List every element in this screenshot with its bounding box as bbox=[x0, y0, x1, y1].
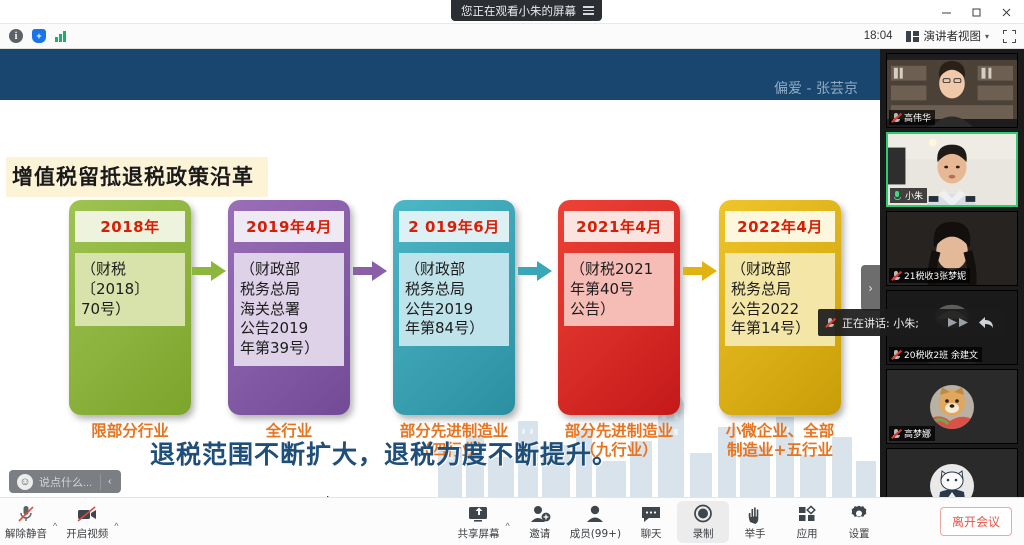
participant-filmstrip[interactable]: 高伟华 小朱 bbox=[880, 49, 1024, 497]
share-options-chevron-icon[interactable]: ^ bbox=[504, 521, 513, 543]
chat-button[interactable]: 聊天 bbox=[625, 501, 677, 543]
record-button[interactable]: 录制 bbox=[677, 501, 729, 543]
collapse-chat-icon[interactable]: ‹ bbox=[101, 476, 118, 487]
toolbar-label: 共享屏幕 bbox=[457, 526, 499, 541]
meeting-info-bar: i + 18:04 演讲者视图 ▾ bbox=[0, 24, 1024, 49]
arrow-icon-2 bbox=[353, 260, 387, 282]
participant-name: 20税收2班 余建文 bbox=[904, 348, 978, 361]
toast-icons bbox=[948, 316, 994, 329]
toolbar-label: 应用 bbox=[797, 526, 818, 541]
avatar bbox=[930, 464, 974, 498]
raise-hand-icon bbox=[744, 504, 766, 524]
presentation-top-band: 偏爱 - 张芸京 bbox=[0, 49, 880, 100]
card-year: 2021年4月 bbox=[564, 211, 674, 242]
now-playing-text: 偏爱 - 张芸京 bbox=[774, 78, 858, 98]
participant-tile[interactable]: 高伟华 bbox=[886, 53, 1018, 128]
participant-tile-active-speaker[interactable]: 小朱 bbox=[886, 132, 1018, 207]
apps-button[interactable]: 应用 bbox=[781, 501, 833, 543]
raise-hand-button[interactable]: 举手 bbox=[729, 501, 781, 543]
minimize-button[interactable] bbox=[932, 1, 960, 23]
speaking-label: 正在讲话: 小朱; bbox=[842, 315, 919, 331]
settings-button[interactable]: 设置 bbox=[833, 501, 885, 543]
participant-name-bar: 小朱 bbox=[890, 188, 927, 203]
dog-avatar-icon bbox=[930, 385, 974, 429]
participant-name-bar: 高伟华 bbox=[889, 110, 935, 125]
arrow-icon-3 bbox=[518, 260, 552, 282]
gear-icon bbox=[848, 504, 870, 524]
arrow-icon-1 bbox=[192, 260, 226, 282]
card-body: 2018年 （财税 〔2018〕 70号） bbox=[69, 200, 191, 415]
slide-content: 增值税留抵退税政策沿革 2018年 （财税 〔2018〕 70号） 限部分行业 bbox=[0, 100, 880, 497]
mic-muted-icon bbox=[891, 428, 901, 439]
card-document: （财政部 税务总局 海关总署 公告2019 年第39号） bbox=[234, 253, 344, 366]
cat-avatar-icon bbox=[930, 464, 974, 498]
mic-muted-icon bbox=[891, 349, 901, 360]
card-document: （财税 〔2018〕 70号） bbox=[75, 253, 185, 326]
timeline-card-5: 2022年4月 （财政部 税务总局 公告2022 年第14号） 小微企业、全部 … bbox=[719, 200, 841, 415]
window-controls bbox=[932, 0, 1020, 24]
invite-user-icon bbox=[529, 504, 551, 524]
participants-icon bbox=[584, 504, 606, 524]
maximize-button[interactable] bbox=[962, 1, 990, 23]
card-year: 2018年 bbox=[75, 211, 185, 242]
smiley-icon[interactable]: ☺ bbox=[17, 474, 33, 490]
toolbar-label: 聊天 bbox=[641, 526, 662, 541]
signal-bars-icon[interactable] bbox=[55, 30, 66, 42]
title-bar: 您正在观看小朱的屏幕 bbox=[0, 0, 1024, 24]
chat-icon bbox=[640, 504, 662, 524]
reply-arrow-icon bbox=[979, 316, 994, 329]
timeline-card-4: 2021年4月 （财税2021 年第40号 公告） 部分先进制造业 （九行业） bbox=[558, 200, 680, 415]
toolbar-label: 录制 bbox=[693, 526, 714, 541]
leave-meeting-button[interactable]: 离开会议 bbox=[940, 507, 1012, 536]
hamburger-icon[interactable] bbox=[583, 6, 594, 15]
arrow-icon-4 bbox=[683, 260, 717, 282]
video-options-chevron-icon[interactable]: ^ bbox=[113, 521, 122, 543]
shield-icon[interactable]: + bbox=[32, 29, 46, 43]
participant-tile[interactable]: 21税收3张梦妮 bbox=[886, 211, 1018, 286]
video-off-icon bbox=[76, 504, 98, 524]
mic-muted-icon bbox=[891, 270, 901, 281]
participant-name-bar: 20税收2班 余建文 bbox=[889, 347, 982, 362]
card-document: （财税2021 年第40号 公告） bbox=[564, 253, 674, 326]
record-icon bbox=[692, 504, 714, 524]
timeline-card-1: 2018年 （财税 〔2018〕 70号） 限部分行业 bbox=[69, 200, 191, 415]
speaker-view-icon bbox=[906, 31, 919, 42]
fullscreen-icon[interactable] bbox=[1003, 30, 1016, 43]
close-button[interactable] bbox=[992, 1, 1020, 23]
share-screen-button[interactable]: 共享屏幕 bbox=[452, 501, 504, 543]
sharing-banner-text: 您正在观看小朱的屏幕 bbox=[461, 3, 576, 19]
card-body: 2022年4月 （财政部 税务总局 公告2022 年第14号） bbox=[719, 200, 841, 415]
zoom-meeting-window: 您正在观看小朱的屏幕 i + 18:04 演讲者视图 bbox=[0, 0, 1024, 545]
chat-placeholder[interactable]: 说点什么... bbox=[39, 474, 101, 490]
participant-tile[interactable]: 高梦娜 bbox=[886, 369, 1018, 444]
toolbar-label: 邀请 bbox=[529, 526, 550, 541]
double-chevron-icon bbox=[948, 316, 974, 329]
apps-icon bbox=[796, 504, 818, 524]
start-video-button[interactable]: 开启视频 bbox=[61, 501, 113, 543]
meeting-clock: 18:04 bbox=[864, 30, 893, 42]
unmute-button[interactable]: 解除静音 bbox=[0, 501, 52, 543]
chevron-down-icon: ▾ bbox=[985, 32, 989, 41]
timeline-card-3: 2 019年6月 （财政部 税务总局 公告2019 年第84号） 部分先进制造业… bbox=[393, 200, 515, 415]
active-speaker-toast: 正在讲话: 小朱; bbox=[818, 309, 1004, 336]
card-document: （财政部 税务总局 公告2019 年第84号） bbox=[399, 253, 509, 346]
card-year: 2 019年6月 bbox=[399, 211, 509, 242]
participant-tile[interactable] bbox=[886, 448, 1018, 497]
toolbar-label: 开启视频 bbox=[66, 526, 108, 541]
filmstrip-collapse-handle[interactable]: › bbox=[861, 265, 880, 311]
participant-name: 高梦娜 bbox=[904, 427, 931, 440]
card-year: 2019年4月 bbox=[234, 211, 344, 242]
participant-name-bar: 高梦娜 bbox=[889, 426, 935, 441]
card-body: 2 019年6月 （财政部 税务总局 公告2019 年第84号） bbox=[393, 200, 515, 415]
toolbar-label: 成员(99+) bbox=[570, 526, 621, 541]
view-mode-label: 演讲者视图 bbox=[923, 28, 981, 44]
participant-name: 21税收3张梦妮 bbox=[904, 269, 966, 282]
card-body: 2021年4月 （财税2021 年第40号 公告） bbox=[558, 200, 680, 415]
mic-on-icon bbox=[892, 190, 902, 201]
participant-name: 高伟华 bbox=[904, 111, 931, 124]
audio-options-chevron-icon[interactable]: ^ bbox=[52, 521, 61, 543]
toolbar-label: 举手 bbox=[745, 526, 766, 541]
view-mode-selector[interactable]: 演讲者视图 ▾ bbox=[902, 26, 993, 46]
participant-name: 小朱 bbox=[905, 189, 923, 202]
screen-sharing-banner[interactable]: 您正在观看小朱的屏幕 bbox=[451, 0, 602, 21]
participants-button[interactable]: 成员(99+) bbox=[566, 501, 625, 543]
invite-button[interactable]: 邀请 bbox=[514, 501, 566, 543]
timeline-card-2: 2019年4月 （财政部 税务总局 海关总署 公告2019 年第39号） 全行业 bbox=[228, 200, 350, 415]
floating-chat-input[interactable]: ☺ 说点什么... ‹ bbox=[9, 470, 121, 493]
participant-name-bar: 21税收3张梦妮 bbox=[889, 268, 970, 283]
info-icon[interactable]: i bbox=[9, 29, 23, 43]
meeting-toolbar: 解除静音 ^ 开启视频 ^ bbox=[0, 497, 1024, 545]
shared-screen-stage[interactable]: 偏爱 - 张芸京 bbox=[0, 49, 880, 497]
card-year: 2022年4月 bbox=[725, 211, 835, 242]
mic-muted-icon bbox=[825, 317, 835, 328]
card-body: 2019年4月 （财政部 税务总局 海关总署 公告2019 年第39号） bbox=[228, 200, 350, 415]
avatar bbox=[930, 385, 974, 429]
slide-summary-text: 退税范围不断扩大，退税力度不断提升。 bbox=[150, 435, 750, 471]
share-screen-icon bbox=[467, 504, 489, 524]
toolbar-label: 解除静音 bbox=[5, 526, 47, 541]
mic-muted-icon bbox=[15, 504, 37, 524]
policy-timeline: 2018年 （财税 〔2018〕 70号） 限部分行业 2019年4月 （财政部… bbox=[0, 200, 880, 470]
mic-muted-icon bbox=[891, 112, 901, 123]
page-title: 增值税留抵退税政策沿革 bbox=[6, 157, 268, 197]
toolbar-label: 设置 bbox=[849, 526, 870, 541]
